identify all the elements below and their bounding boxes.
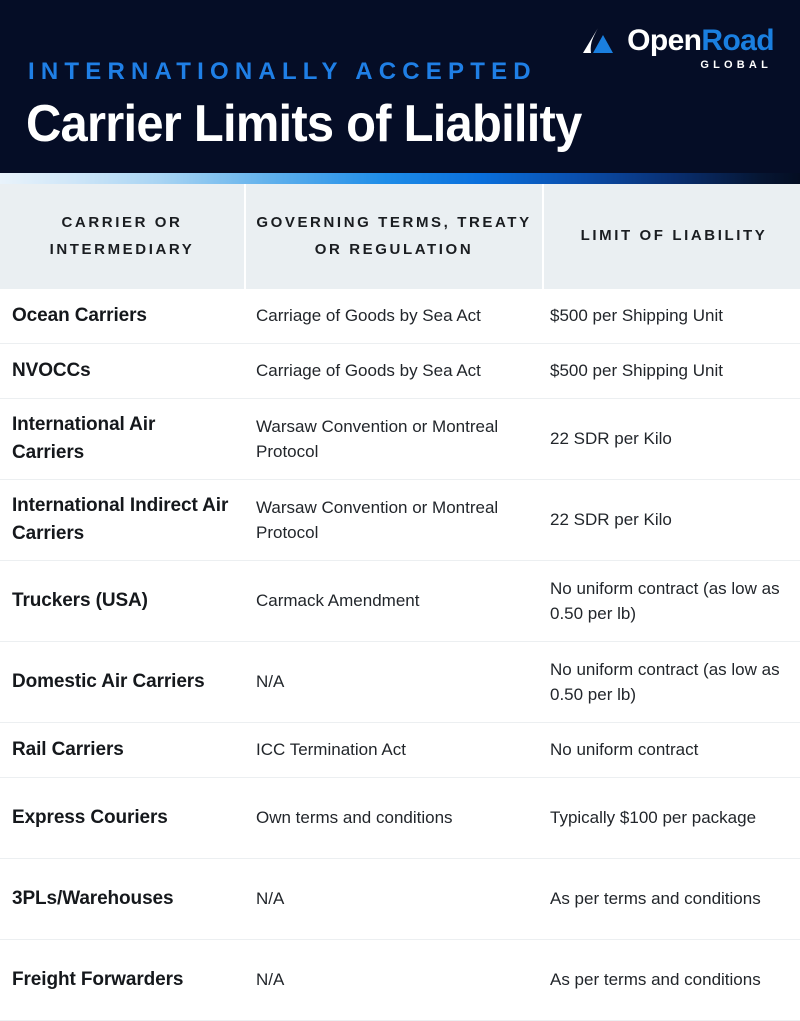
table-row: 3PLs/Warehouses N/A As per terms and con…: [0, 859, 800, 940]
column-header-carrier: CARRIER OR INTERMEDIARY: [0, 184, 244, 289]
openroad-global-logo: OpenRoad GLOBAL: [579, 26, 774, 71]
cell-governing: Carriage of Goods by Sea Act: [244, 358, 540, 383]
cell-carrier: Truckers (USA): [0, 587, 244, 616]
cell-governing: N/A: [244, 669, 540, 694]
cell-limit: $500 per Shipping Unit: [540, 303, 800, 328]
cell-carrier: Domestic Air Carriers: [0, 668, 244, 697]
liability-table: CARRIER OR INTERMEDIARY GOVERNING TERMS,…: [0, 184, 800, 1021]
cell-governing: N/A: [244, 967, 540, 992]
cell-governing: Carriage of Goods by Sea Act: [244, 303, 540, 328]
cell-limit: No uniform contract (as low as 0.50 per …: [540, 657, 800, 707]
logo-text-road: Road: [701, 26, 774, 56]
cell-governing: Warsaw Convention or Montreal Protocol: [244, 495, 540, 545]
table-row: Truckers (USA) Carmack Amendment No unif…: [0, 561, 800, 642]
gradient-divider: [0, 173, 800, 184]
cell-governing: Carmack Amendment: [244, 588, 540, 613]
column-header-governing-terms: GOVERNING TERMS, TREATY OR REGULATION: [246, 184, 542, 289]
cell-carrier: Freight Forwarders: [0, 966, 244, 995]
cell-limit: As per terms and conditions: [540, 886, 800, 911]
cell-carrier: 3PLs/Warehouses: [0, 885, 244, 914]
cell-carrier: International Indirect Air Carriers: [0, 492, 244, 549]
table-row: Rail Carriers ICC Termination Act No uni…: [0, 723, 800, 778]
cell-limit: Typically $100 per package: [540, 805, 800, 830]
cell-limit: $500 per Shipping Unit: [540, 358, 800, 383]
cell-limit: As per terms and conditions: [540, 967, 800, 992]
column-header-limit-of-liability: LIMIT OF LIABILITY: [544, 184, 800, 289]
table-row: Freight Forwarders N/A As per terms and …: [0, 940, 800, 1021]
cell-carrier: NVOCCs: [0, 357, 244, 386]
table-body: Ocean Carriers Carriage of Goods by Sea …: [0, 289, 800, 1021]
cell-carrier: Ocean Carriers: [0, 302, 244, 331]
cell-governing: N/A: [244, 886, 540, 911]
table-row: International Air Carriers Warsaw Conven…: [0, 399, 800, 480]
page-title: Carrier Limits of Liability: [26, 97, 582, 152]
table-row: International Indirect Air Carriers Wars…: [0, 480, 800, 561]
cell-limit: 22 SDR per Kilo: [540, 426, 800, 451]
cell-carrier: Rail Carriers: [0, 736, 244, 765]
cell-governing: Warsaw Convention or Montreal Protocol: [244, 414, 540, 464]
title-banner: OpenRoad GLOBAL INTERNATIONALLY ACCEPTED…: [0, 0, 800, 173]
logo-wordmark-row: OpenRoad: [579, 26, 774, 56]
cell-limit: No uniform contract: [540, 737, 800, 762]
table-row: Domestic Air Carriers N/A No uniform con…: [0, 642, 800, 723]
table-row: Express Couriers Own terms and condition…: [0, 778, 800, 859]
cell-governing: Own terms and conditions: [244, 805, 540, 830]
cell-governing: ICC Termination Act: [244, 737, 540, 762]
banner-eyebrow: INTERNATIONALLY ACCEPTED: [28, 60, 537, 84]
cell-carrier: International Air Carriers: [0, 411, 244, 468]
table-header-row: CARRIER OR INTERMEDIARY GOVERNING TERMS,…: [0, 184, 800, 289]
cell-limit: 22 SDR per Kilo: [540, 507, 800, 532]
openroad-mountain-mark-icon: [579, 26, 625, 56]
table-row: Ocean Carriers Carriage of Goods by Sea …: [0, 289, 800, 344]
cell-limit: No uniform contract (as low as 0.50 per …: [540, 576, 800, 626]
cell-carrier: Express Couriers: [0, 804, 244, 833]
logo-tagline-global: GLOBAL: [700, 59, 772, 71]
table-row: NVOCCs Carriage of Goods by Sea Act $500…: [0, 344, 800, 399]
logo-text-open: Open: [627, 26, 701, 56]
